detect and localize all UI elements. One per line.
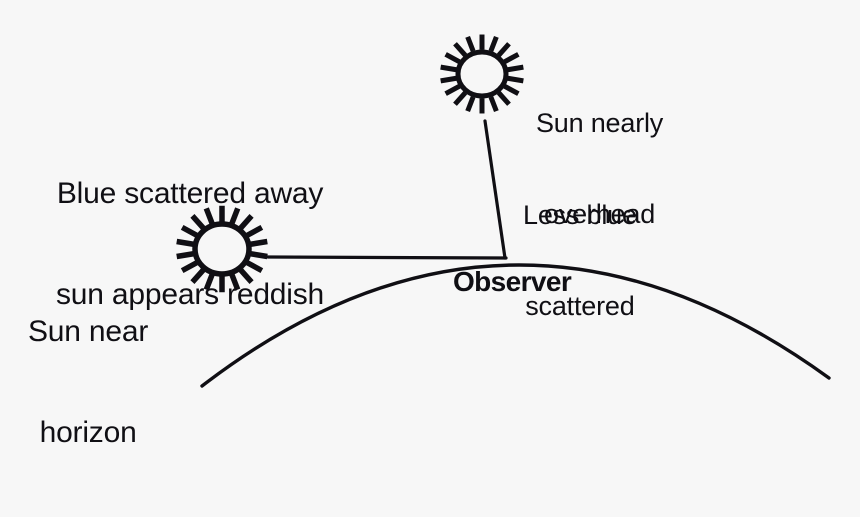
- sun-ray: [455, 93, 465, 105]
- sun-ray: [446, 54, 460, 62]
- label-line-2: horizon: [28, 416, 148, 450]
- sun-ray: [499, 93, 509, 105]
- sun-disc: [458, 52, 506, 96]
- sun-ray: [491, 37, 496, 51]
- sun-ray: [505, 86, 519, 94]
- sun-ray: [505, 54, 519, 62]
- label-line-1: Sun near: [28, 315, 148, 349]
- sun-ray: [508, 78, 524, 81]
- sun-icon-overhead: [441, 35, 524, 114]
- label-sun-near-horizon: Sun near horizon: [28, 248, 148, 517]
- label-observer: Observer: [453, 266, 571, 297]
- sun-ray: [468, 37, 473, 51]
- scattering-diagram: Blue scattered away sun appears reddish …: [0, 0, 860, 411]
- label-line-1: Sun nearly: [536, 108, 663, 138]
- overhead-sunlight-ray: [485, 121, 505, 258]
- sun-ray: [446, 86, 460, 94]
- sun-ray: [499, 44, 509, 56]
- sun-ray: [491, 97, 496, 111]
- label-less-blue-scattered: Less blue scattered: [523, 140, 637, 382]
- sun-ray: [455, 44, 465, 56]
- sun-ray: [508, 67, 524, 70]
- sun-ray: [441, 78, 457, 81]
- label-line-1: Less blue: [523, 200, 637, 230]
- sun-ray: [441, 67, 457, 70]
- label-line-1: Blue scattered away: [56, 177, 324, 211]
- sun-ray: [468, 97, 473, 111]
